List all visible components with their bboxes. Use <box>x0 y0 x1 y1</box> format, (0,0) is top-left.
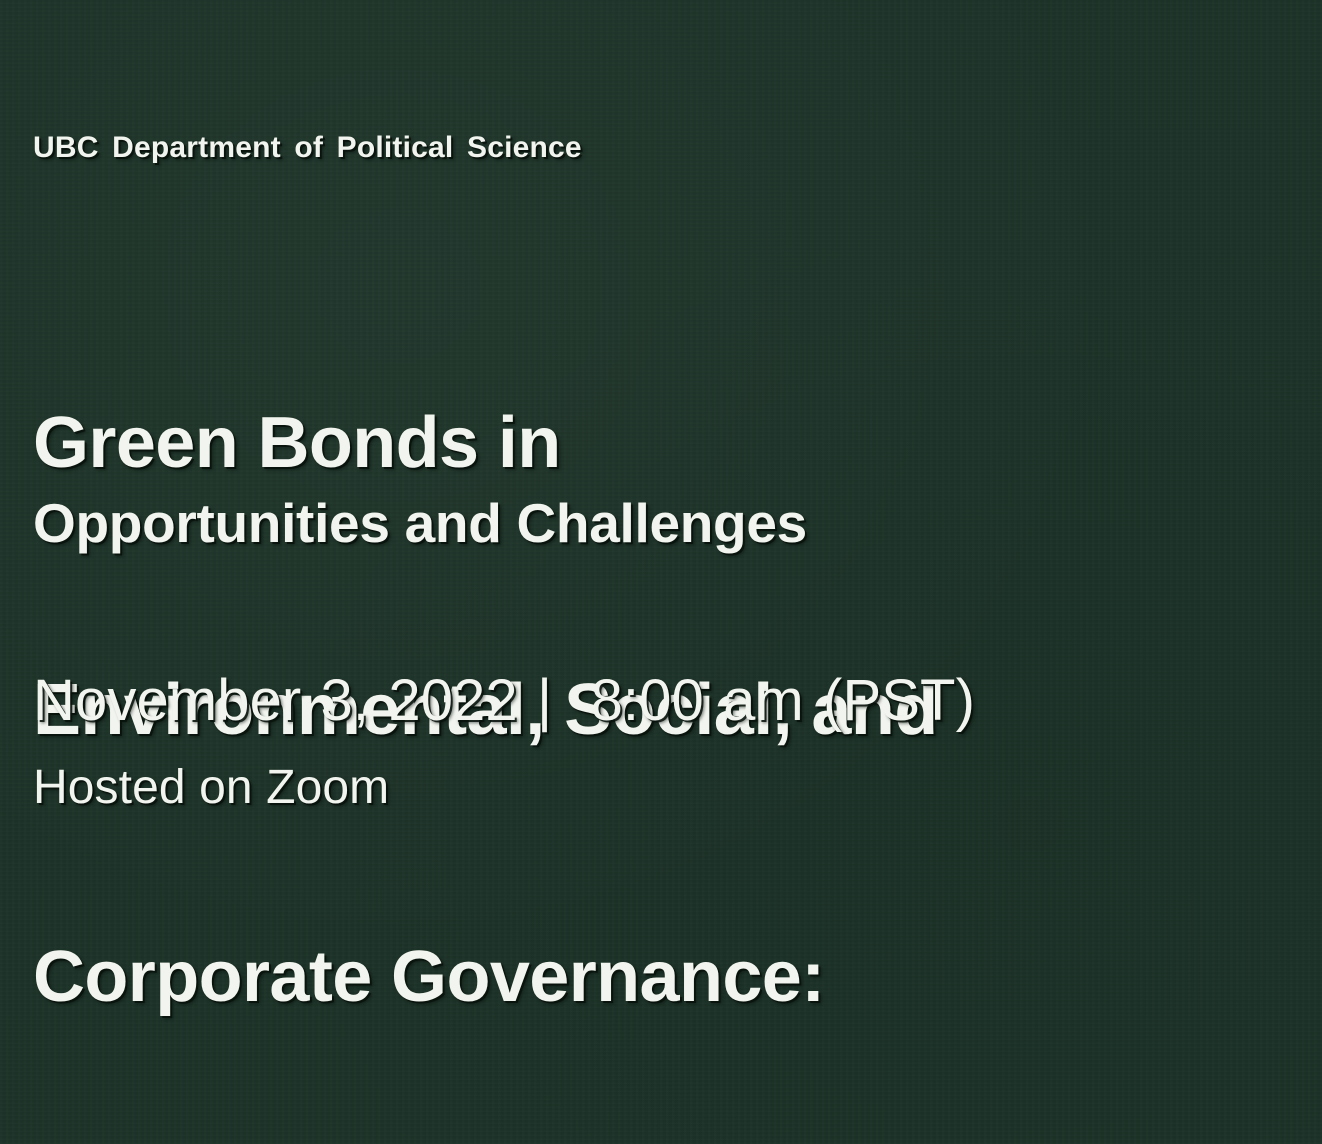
event-venue: Hosted on Zoom <box>33 760 389 816</box>
event-subtitle: Opportunities and Challenges <box>33 492 807 554</box>
event-announcement-slide: UBC Department of Political Science Gree… <box>0 0 1322 1144</box>
event-datetime: November 3, 2022 | 8:00 am (PST) <box>33 668 975 734</box>
department-eyebrow: UBC Department of Political Science <box>33 131 582 165</box>
event-title-line-1: Green Bonds in <box>33 399 938 488</box>
event-title-line-3: Corporate Governance: <box>33 933 938 1022</box>
